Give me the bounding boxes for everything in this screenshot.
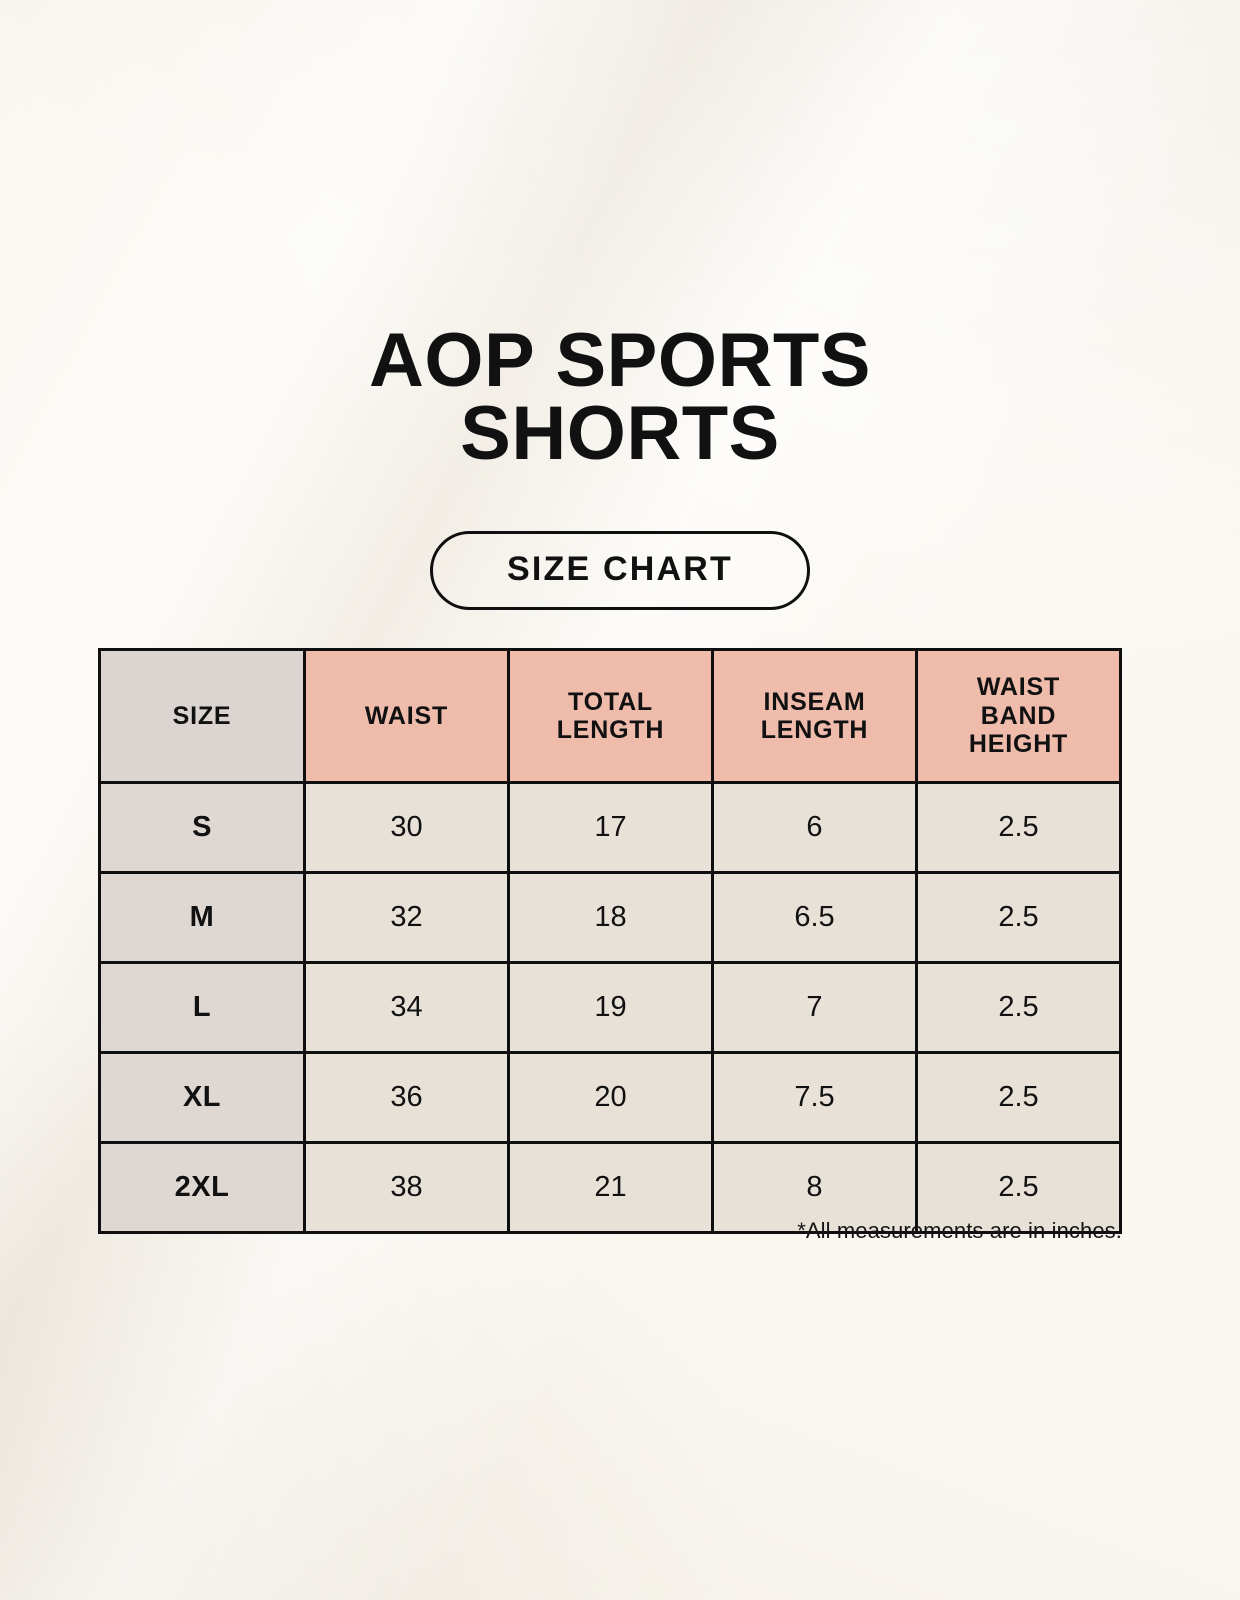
column-header-total-length: TOTAL LENGTH xyxy=(509,650,713,783)
size-table-container: SIZE WAIST TOTAL LENGTH INSEAM LENGTH WA… xyxy=(98,648,1119,1234)
cell-total-length: 21 xyxy=(509,1143,713,1233)
cell-total-length: 18 xyxy=(509,873,713,963)
cell-size: M xyxy=(100,873,305,963)
table-row: M 32 18 6.5 2.5 xyxy=(100,873,1121,963)
table-header-row: SIZE WAIST TOTAL LENGTH INSEAM LENGTH WA… xyxy=(100,650,1121,783)
cell-waistband-height: 2.5 xyxy=(917,1053,1121,1143)
column-header-inseam-length: INSEAM LENGTH xyxy=(713,650,917,783)
table-row: XL 36 20 7.5 2.5 xyxy=(100,1053,1121,1143)
size-chart-badge: SIZE CHART xyxy=(430,531,810,610)
cell-waistband-height: 2.5 xyxy=(917,783,1121,873)
table-row: S 30 17 6 2.5 xyxy=(100,783,1121,873)
cell-waistband-height: 2.5 xyxy=(917,873,1121,963)
cell-total-length: 20 xyxy=(509,1053,713,1143)
cell-waistband-height: 2.5 xyxy=(917,963,1121,1053)
page-title: AOP SPORTS SHORTS xyxy=(0,325,1240,471)
cell-size: S xyxy=(100,783,305,873)
column-header-waist-band-height: WAIST BAND HEIGHT xyxy=(917,650,1121,783)
size-chart-table: SIZE WAIST TOTAL LENGTH INSEAM LENGTH WA… xyxy=(98,648,1122,1234)
column-header-waist: WAIST xyxy=(305,650,509,783)
cell-waist: 36 xyxy=(305,1053,509,1143)
cell-inseam-length: 7 xyxy=(713,963,917,1053)
cell-waist: 30 xyxy=(305,783,509,873)
cell-size: L xyxy=(100,963,305,1053)
measurements-footnote: *All measurements are in inches. xyxy=(797,1218,1122,1244)
cell-inseam-length: 6 xyxy=(713,783,917,873)
table-body: S 30 17 6 2.5 M 32 18 6.5 2.5 L 34 19 xyxy=(100,783,1121,1233)
cell-waist: 38 xyxy=(305,1143,509,1233)
title-block: AOP SPORTS SHORTS xyxy=(0,325,1240,471)
cell-inseam-length: 6.5 xyxy=(713,873,917,963)
cell-waist: 32 xyxy=(305,873,509,963)
cell-total-length: 17 xyxy=(509,783,713,873)
size-chart-page: AOP SPORTS SHORTS SIZE CHART SIZE WAIST … xyxy=(0,0,1240,1600)
cell-total-length: 19 xyxy=(509,963,713,1053)
size-chart-pill-wrap: SIZE CHART xyxy=(0,531,1240,610)
cell-size: XL xyxy=(100,1053,305,1143)
table-row: L 34 19 7 2.5 xyxy=(100,963,1121,1053)
table-header: SIZE WAIST TOTAL LENGTH INSEAM LENGTH WA… xyxy=(100,650,1121,783)
cell-inseam-length: 7.5 xyxy=(713,1053,917,1143)
cell-size: 2XL xyxy=(100,1143,305,1233)
cell-waist: 34 xyxy=(305,963,509,1053)
column-header-size: SIZE xyxy=(100,650,305,783)
